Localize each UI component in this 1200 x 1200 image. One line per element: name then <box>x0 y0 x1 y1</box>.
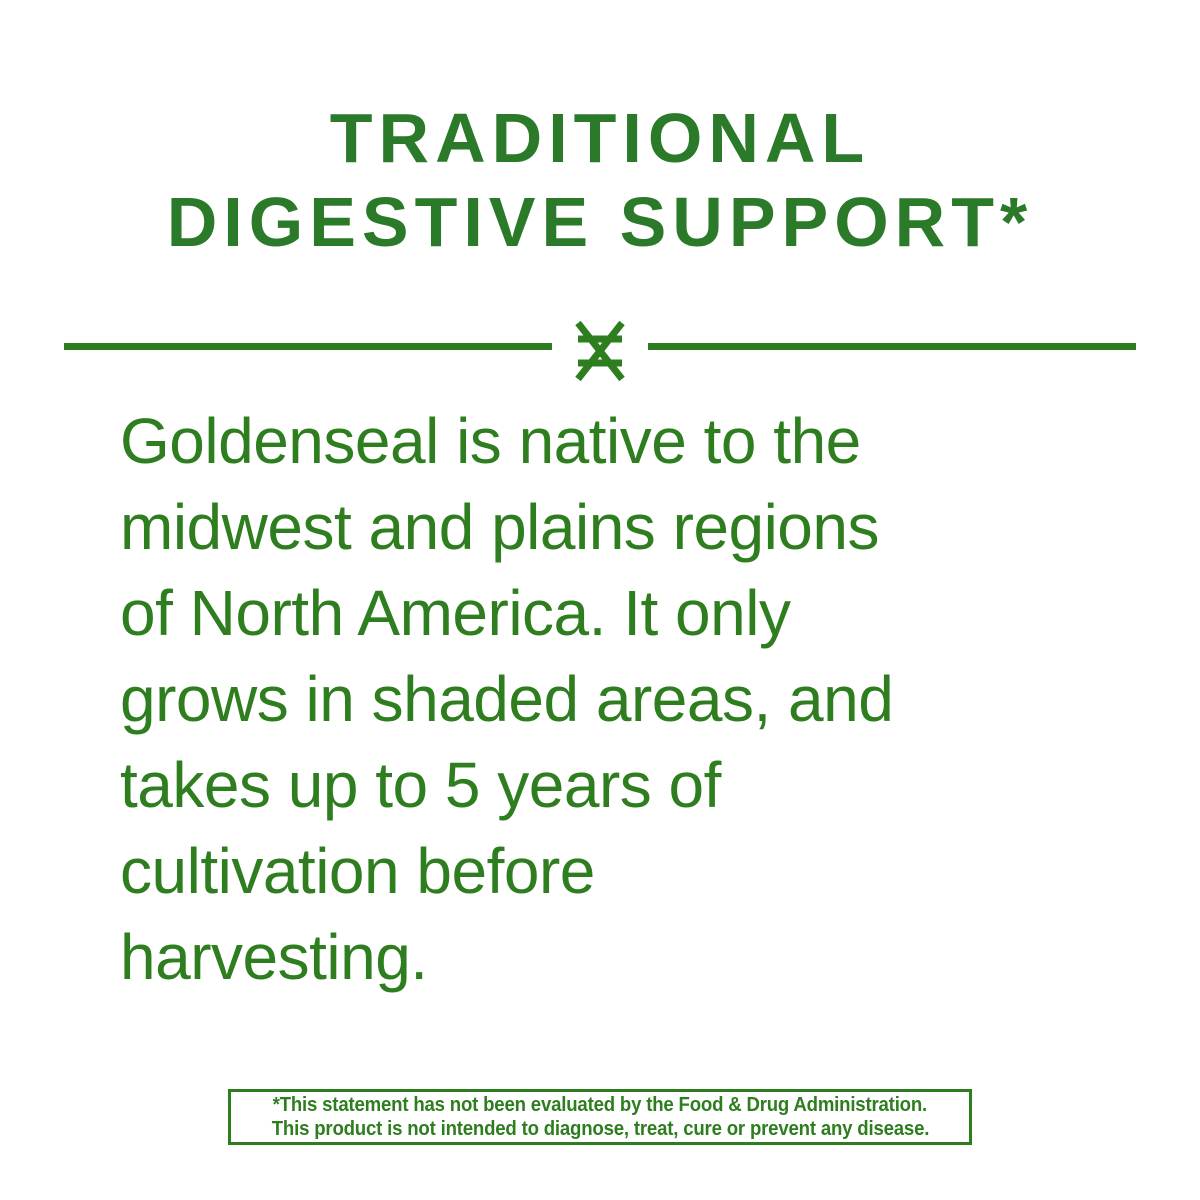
body-line: cultivation before <box>120 828 1080 914</box>
body-line: of North America. It only <box>120 570 1080 656</box>
fda-disclaimer-box: *This statement has not been evaluated b… <box>228 1089 972 1145</box>
fda-disclaimer-line-2: This product is not intended to diagnose… <box>271 1117 928 1141</box>
body-line: harvesting. <box>120 914 1080 1000</box>
body-line: takes up to 5 years of <box>120 742 1080 828</box>
product-benefit-panel: TRADITIONAL DIGESTIVE SUPPORT* Goldensea… <box>0 0 1200 1200</box>
body-line: Goldenseal is native to the <box>120 398 1080 484</box>
body-line: grows in shaded areas, and <box>120 656 1080 742</box>
page-title-line-1: TRADITIONAL <box>0 96 1200 180</box>
body-line: midwest and plains regions <box>120 484 1080 570</box>
page-title: TRADITIONAL DIGESTIVE SUPPORT* <box>0 96 1200 264</box>
fda-disclaimer-line-1: *This statement has not been evaluated b… <box>273 1093 927 1117</box>
body-paragraph: Goldenseal is native to the midwest and … <box>120 398 1080 1000</box>
section-divider <box>64 316 1136 386</box>
page-title-line-2: DIGESTIVE SUPPORT* <box>0 180 1200 264</box>
divider-ornament-container <box>552 316 648 386</box>
double-cross-ornament-icon <box>564 315 636 387</box>
